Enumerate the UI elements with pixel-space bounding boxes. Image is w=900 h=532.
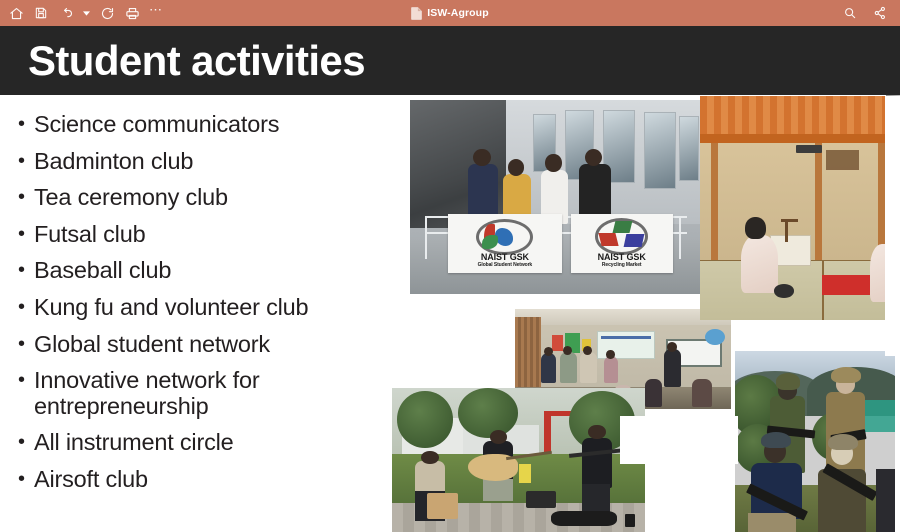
- collage-gap-block: [620, 416, 738, 464]
- slide-canvas[interactable]: Student activities • Science communicato…: [0, 26, 900, 532]
- document-icon: [411, 7, 422, 20]
- document-title: ISW-Agroup: [427, 7, 488, 19]
- redo-icon[interactable]: [99, 5, 115, 21]
- share-icon[interactable]: [872, 5, 888, 21]
- home-icon[interactable]: [8, 5, 24, 21]
- collage-gap-block: [885, 96, 900, 356]
- photo-tea-ceremony: [700, 96, 885, 320]
- presentation-viewer: ⋯ ISW-Agroup: [0, 0, 900, 532]
- photo-global-student-network: NAIST GSKGlobal Student Network NAIST GS…: [410, 100, 702, 294]
- toolbar-right-group: [842, 5, 892, 21]
- photo-all-instrument-circle: [392, 388, 645, 532]
- toolbar-left-group: ⋯: [8, 5, 163, 21]
- print-icon[interactable]: [124, 5, 140, 21]
- top-toolbar: ⋯ ISW-Agroup: [0, 0, 900, 26]
- search-icon[interactable]: [842, 5, 858, 21]
- more-options-icon[interactable]: ⋯: [149, 5, 163, 21]
- photo-collage: NAIST GSKGlobal Student Network NAIST GS…: [0, 26, 900, 532]
- undo-icon[interactable]: [58, 5, 74, 21]
- undo-dropdown-caret-icon[interactable]: [83, 5, 90, 21]
- save-icon[interactable]: [33, 5, 49, 21]
- photo-airsoft-club: [735, 351, 895, 532]
